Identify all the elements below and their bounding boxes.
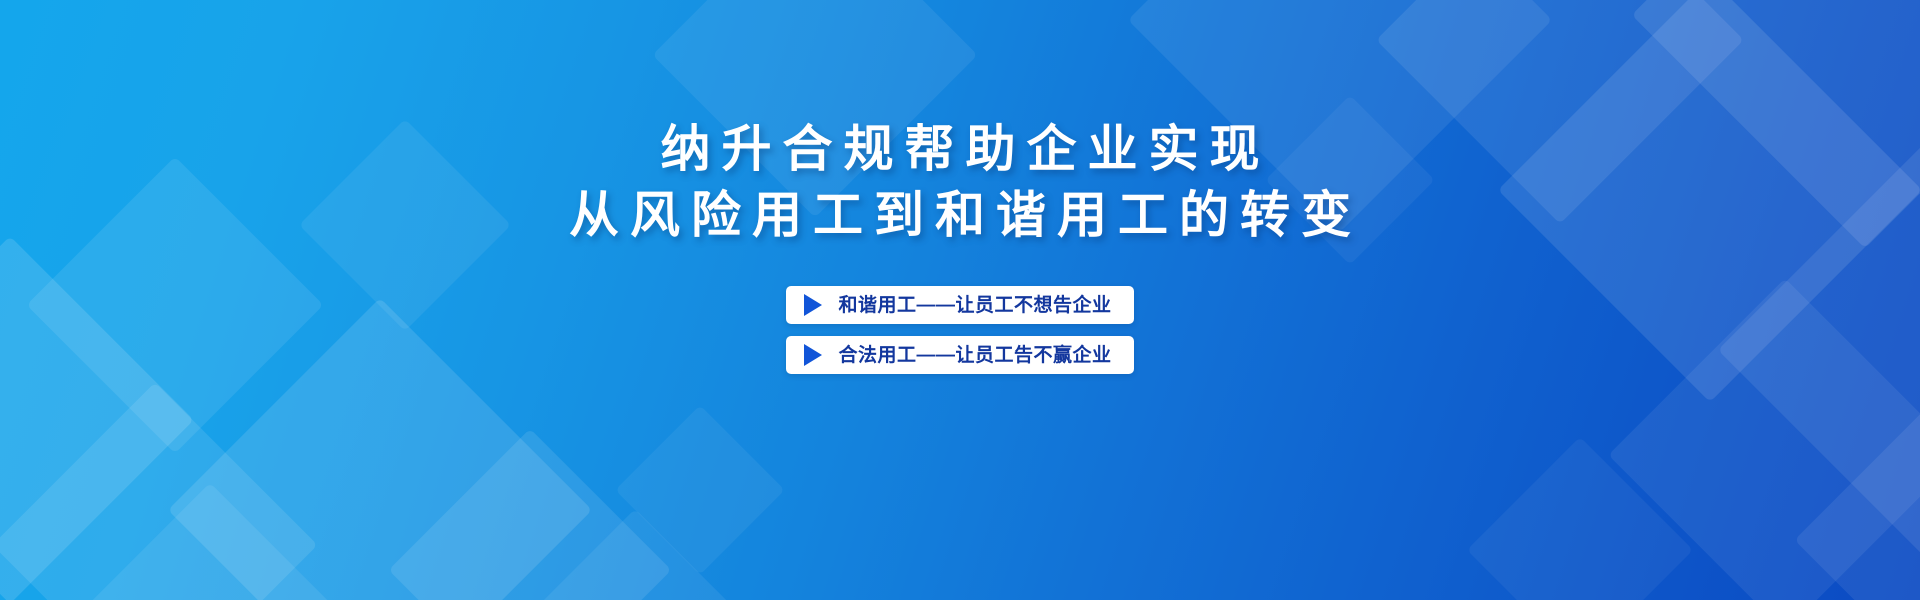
headline-line-2: 从风险用工到和谐用工的转变 xyxy=(558,182,1362,248)
headline-line-1: 纳升合规帮助企业实现 xyxy=(558,116,1362,182)
cta-button-label: 合法用工——让员工告不赢企业 xyxy=(838,346,1111,365)
play-triangle-icon xyxy=(804,294,822,316)
page-title: 纳升合规帮助企业实现 从风险用工到和谐用工的转变 xyxy=(558,116,1362,248)
banner-content: 纳升合规帮助企业实现 从风险用工到和谐用工的转变 和谐用工——让员工不想告企业 … xyxy=(0,0,1920,600)
promo-banner: 纳升合规帮助企业实现 从风险用工到和谐用工的转变 和谐用工——让员工不想告企业 … xyxy=(0,0,1920,600)
cta-button-group: 和谐用工——让员工不想告企业 合法用工——让员工告不赢企业 xyxy=(786,286,1133,374)
cta-button-legal-employment[interactable]: 合法用工——让员工告不赢企业 xyxy=(786,336,1133,374)
play-triangle-icon xyxy=(804,344,822,366)
cta-button-label: 和谐用工——让员工不想告企业 xyxy=(838,296,1111,315)
cta-button-harmonious-employment[interactable]: 和谐用工——让员工不想告企业 xyxy=(786,286,1133,324)
